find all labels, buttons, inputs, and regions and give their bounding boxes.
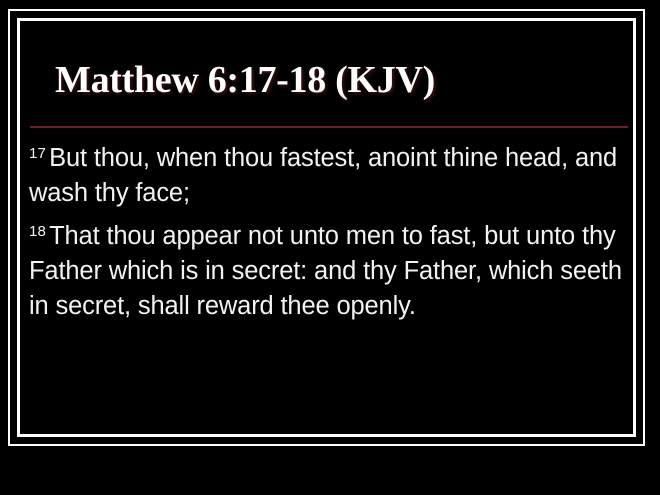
verse-number: 18 xyxy=(29,223,49,240)
verse-text: That thou appear not unto men to fast, b… xyxy=(29,222,622,320)
slide-title: Matthew 6:17-18 (KJV) xyxy=(30,58,630,102)
verse-paragraph: 18That thou appear not unto men to fast,… xyxy=(29,214,633,324)
presentation-slide: Matthew 6:17-18 (KJV) 17But thou, when t… xyxy=(0,0,660,495)
verse-text: But thou, when thou fastest, anoint thin… xyxy=(29,144,617,207)
verse-number: 17 xyxy=(29,145,49,162)
title-divider-rule xyxy=(30,126,628,128)
verse-paragraph: 17But thou, when thou fastest, anoint th… xyxy=(29,136,633,211)
slide-title-block: Matthew 6:17-18 (KJV) xyxy=(30,58,630,102)
slide-body: 17But thou, when thou fastest, anoint th… xyxy=(29,136,633,327)
